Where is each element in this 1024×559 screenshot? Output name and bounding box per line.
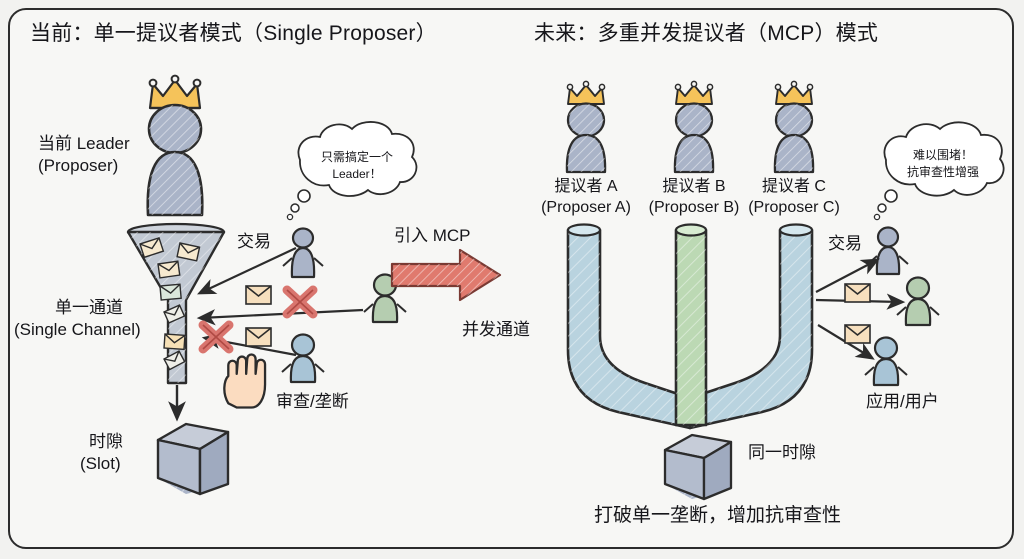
panel-title-current: 当前：单一提议者模式（Single Proposer） [30, 22, 437, 47]
thought-right-line2: 抗审查性增强 [890, 165, 996, 180]
blocked-cross-2 [203, 325, 229, 349]
crown-icon [567, 81, 604, 104]
slot-label-en: (Slot) [80, 454, 121, 474]
proposer-c-label-cn: 提议者 C [734, 178, 854, 197]
panel-title-future: 未来：多重并发提议者（MCP）模式 [534, 22, 878, 47]
conclusion-text: 打破单一垄断，增加抗审查性 [594, 505, 841, 527]
concurrent-channel-label: 并发通道 [462, 320, 530, 340]
tx-envelopes-right [845, 284, 870, 343]
user-person-green-right [897, 278, 939, 326]
stop-hand-icon [224, 354, 265, 407]
diagram-artwork [0, 0, 1024, 559]
diagram-canvas: 当前：单一提议者模式（Single Proposer） 未来：多重并发提议者（M… [0, 0, 1024, 559]
users-label: 应用/用户 [866, 392, 939, 412]
slot-cube-left [158, 424, 228, 494]
tx-person-right [868, 228, 908, 275]
censor-label: 审查/垄断 [276, 392, 349, 412]
concurrent-pipes [568, 225, 812, 429]
same-slot-label: 同一时隙 [748, 443, 816, 463]
leader-figure [148, 76, 203, 215]
proposer-a-figure [567, 81, 605, 172]
tx-person-left [283, 229, 323, 278]
proposer-b-figure [675, 81, 713, 172]
transition-label: 引入 MCP [394, 226, 471, 246]
thought-left-line1: 只需搞定一个 [306, 150, 408, 165]
funnel-shape [128, 224, 224, 418]
slot-cube-right [665, 435, 731, 499]
proposer-a-label-en: (Proposer A) [526, 199, 646, 218]
user-person-blue-right [865, 338, 907, 386]
leader-label-cn: 当前 Leader [38, 134, 130, 154]
transition-arrow [392, 250, 500, 300]
user-person-blue-left [282, 335, 324, 383]
crown-icon [775, 81, 812, 104]
slot-label-cn: 时隙 [89, 432, 123, 452]
proposer-c-label-en: (Proposer C) [734, 199, 854, 218]
thought-right-line1: 难以围堵！ [892, 148, 994, 163]
channel-label-cn: 单一通道 [55, 298, 123, 318]
crown-icon [675, 81, 712, 104]
blocked-cross-1 [287, 290, 313, 314]
crown-icon [150, 76, 201, 108]
thought-left-line2: Leader！ [306, 167, 408, 182]
tx-label-left: 交易 [237, 232, 271, 252]
leader-label-en: (Proposer) [38, 156, 118, 176]
channel-label-en: (Single Channel) [14, 320, 141, 340]
tx-label-right: 交易 [828, 234, 862, 254]
proposer-a-label-cn: 提议者 A [526, 178, 646, 197]
proposer-c-figure [775, 81, 813, 172]
